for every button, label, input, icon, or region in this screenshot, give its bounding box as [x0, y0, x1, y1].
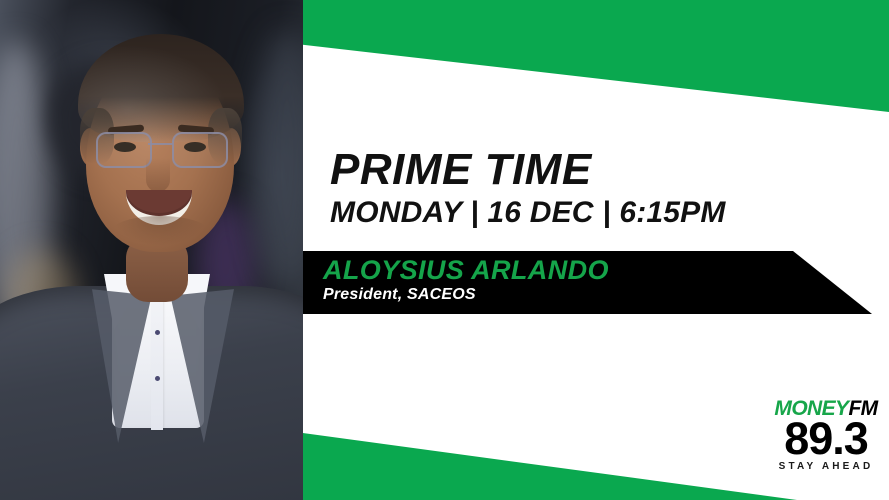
guest-name-banner: ALOYSIUS ARLANDO President, SACEOS	[303, 251, 873, 314]
show-title: PRIME TIME	[330, 148, 870, 192]
glasses-lens-right	[172, 132, 228, 168]
portrait-chin-shadow	[112, 216, 208, 246]
show-title-block: PRIME TIME MONDAY | 16 DEC | 6:15PM	[330, 148, 870, 228]
glasses-bridge	[148, 143, 172, 145]
guest-role: President, SACEOS	[323, 287, 476, 304]
guest-portrait	[0, 0, 303, 500]
promo-graphic: PRIME TIME MONDAY | 16 DEC | 6:15PM ALOY…	[0, 0, 889, 500]
station-logo: MONEYFM 89.3 STAY AHEAD	[770, 398, 882, 472]
portrait-shirt-button-1	[155, 330, 160, 335]
guest-name: ALOYSIUS ARLANDO	[323, 256, 609, 284]
logo-frequency: 89.3	[770, 417, 882, 461]
logo-tagline: STAY AHEAD	[770, 462, 882, 472]
portrait-nose	[146, 158, 170, 192]
portrait-shirt-button-2	[155, 376, 160, 381]
glasses-lens-left	[96, 132, 152, 168]
show-schedule: MONDAY | 16 DEC | 6:15PM	[330, 198, 870, 228]
portrait-shirt-placket	[151, 300, 163, 430]
